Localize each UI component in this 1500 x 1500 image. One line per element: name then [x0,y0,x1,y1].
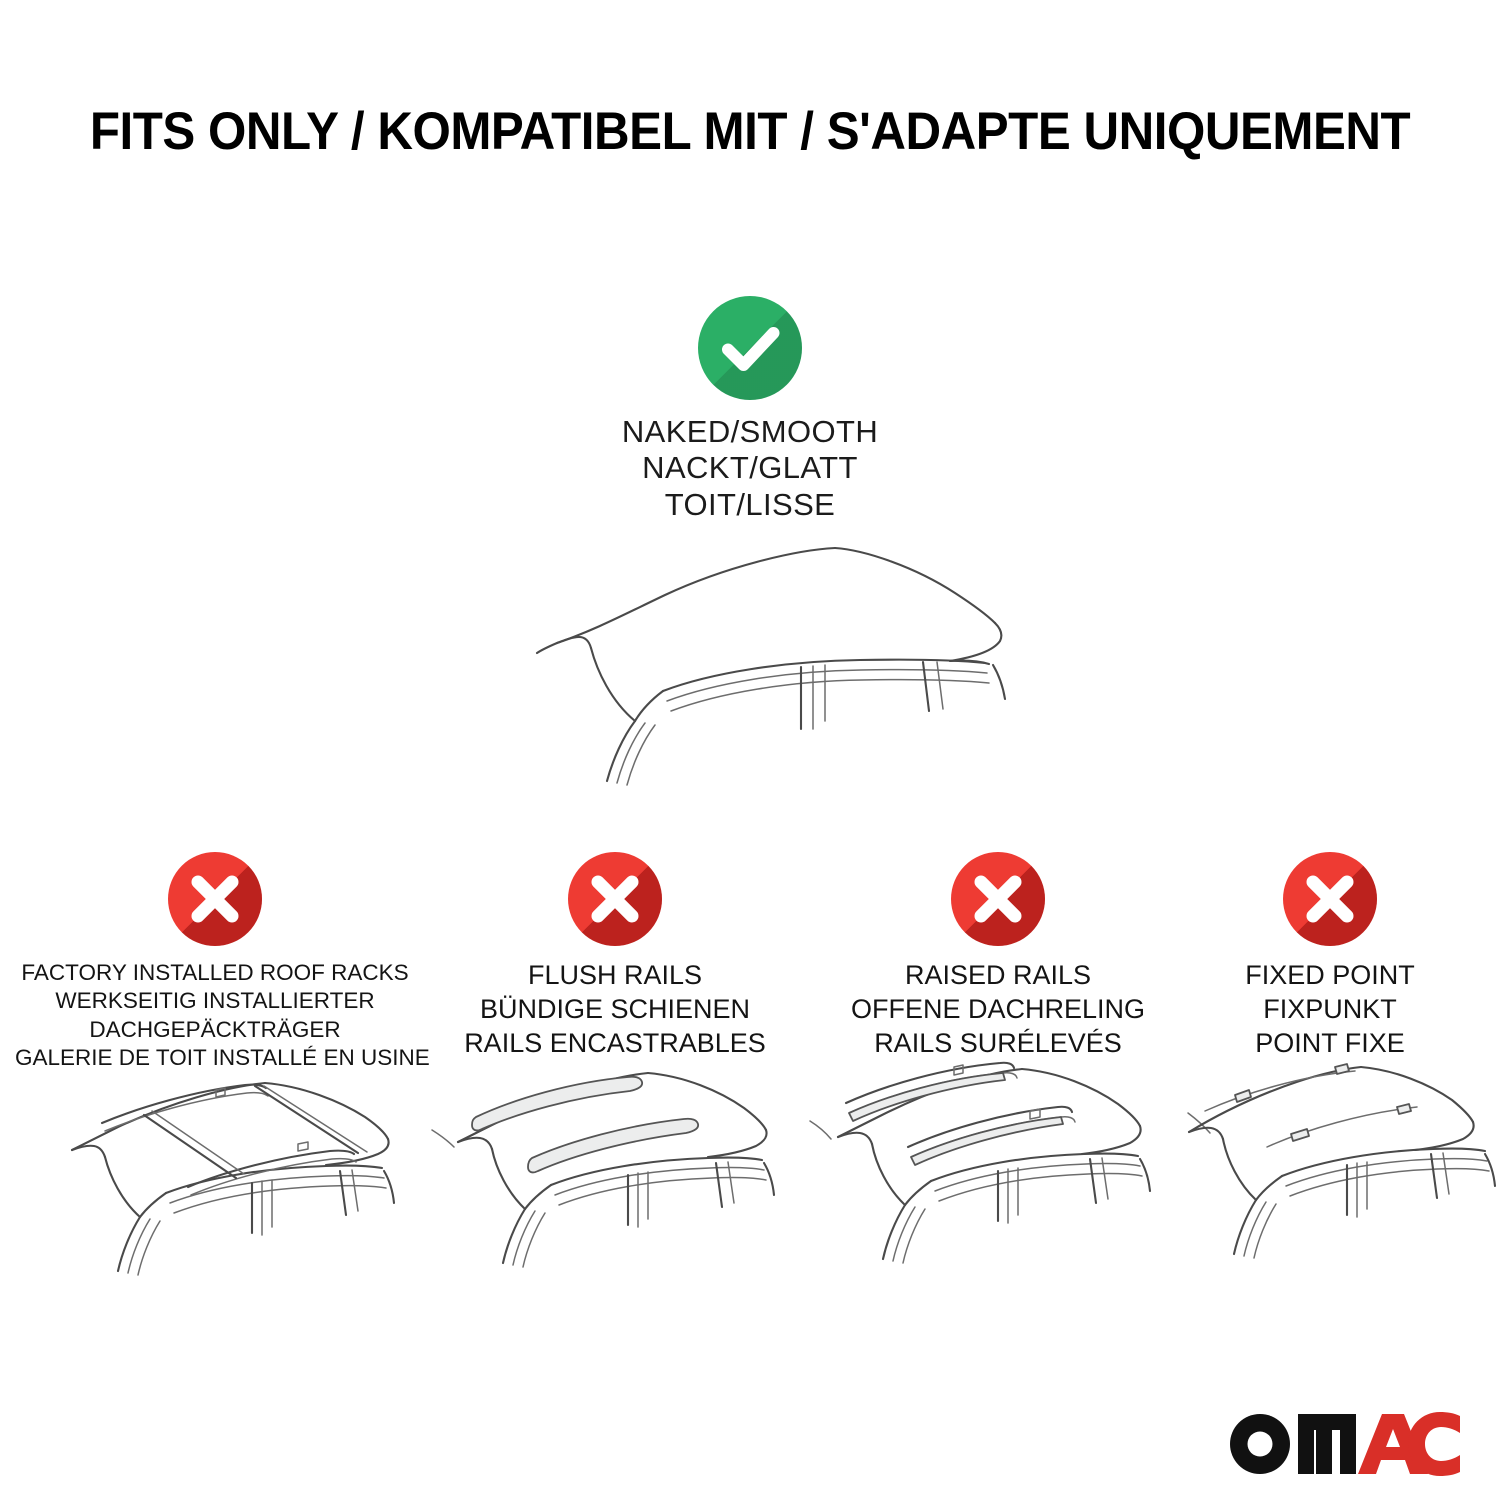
logo-letter-m [1298,1414,1356,1474]
cross-icon [951,852,1045,946]
logo-letter-o [1230,1414,1290,1474]
car-roof-factory-rack-illustration [40,1055,455,1305]
label-line-1: RAISED RAILS [808,959,1188,993]
label-line-1: FIXED POINT [1180,959,1480,993]
incompatible-item-flush-rails: FLUSH RAILS BÜNDIGE SCHIENEN RAILS ENCAS… [425,852,805,1060]
incompatible-label: FIXED POINT FIXPUNKT POINT FIXE [1180,959,1480,1060]
label-line-2: WERKSEITIG INSTALLIERTER [15,987,415,1015]
car-roof-flush-rails-illustration [432,1055,832,1305]
car-roof-raised-rails-illustration [822,1055,1222,1305]
label-line-3: DACHGEPÄCKTRÄGER [15,1016,415,1044]
label-line-2: OFFENE DACHRELING [808,993,1188,1027]
car-roof-fixed-point-illustration [1175,1055,1500,1305]
incompatible-label: FLUSH RAILS BÜNDIGE SCHIENEN RAILS ENCAS… [425,959,805,1060]
compatibility-infographic: FITS ONLY / KOMPATIBEL MIT / S'ADAPTE UN… [0,0,1500,1500]
compatible-label: NAKED/SMOOTH NACKT/GLATT TOIT/LISSE [450,414,1050,523]
compatible-label-line-1: NAKED/SMOOTH [450,414,1050,450]
label-line-1: FLUSH RAILS [425,959,805,993]
incompatible-item-fixed-point: FIXED POINT FIXPUNKT POINT FIXE [1180,852,1480,1060]
compatible-label-line-2: NACKT/GLATT [450,450,1050,486]
label-line-1: FACTORY INSTALLED ROOF RACKS [15,959,415,987]
incompatible-item-factory-rack: FACTORY INSTALLED ROOF RACKS WERKSEITIG … [15,852,415,1072]
incompatible-label: RAISED RAILS OFFENE DACHRELING RAILS SUR… [808,959,1188,1060]
compatible-section: NAKED/SMOOTH NACKT/GLATT TOIT/LISSE [450,296,1050,523]
cross-icon [1283,852,1377,946]
label-line-2: FIXPUNKT [1180,993,1480,1027]
page-title: FITS ONLY / KOMPATIBEL MIT / S'ADAPTE UN… [53,104,1448,160]
incompatible-item-raised-rails: RAISED RAILS OFFENE DACHRELING RAILS SUR… [808,852,1188,1060]
omac-logo [1228,1404,1460,1478]
label-line-2: BÜNDIGE SCHIENEN [425,993,805,1027]
car-roof-naked-smooth-illustration [495,515,1055,815]
cross-icon [568,852,662,946]
cross-icon [168,852,262,946]
check-icon [698,296,802,400]
